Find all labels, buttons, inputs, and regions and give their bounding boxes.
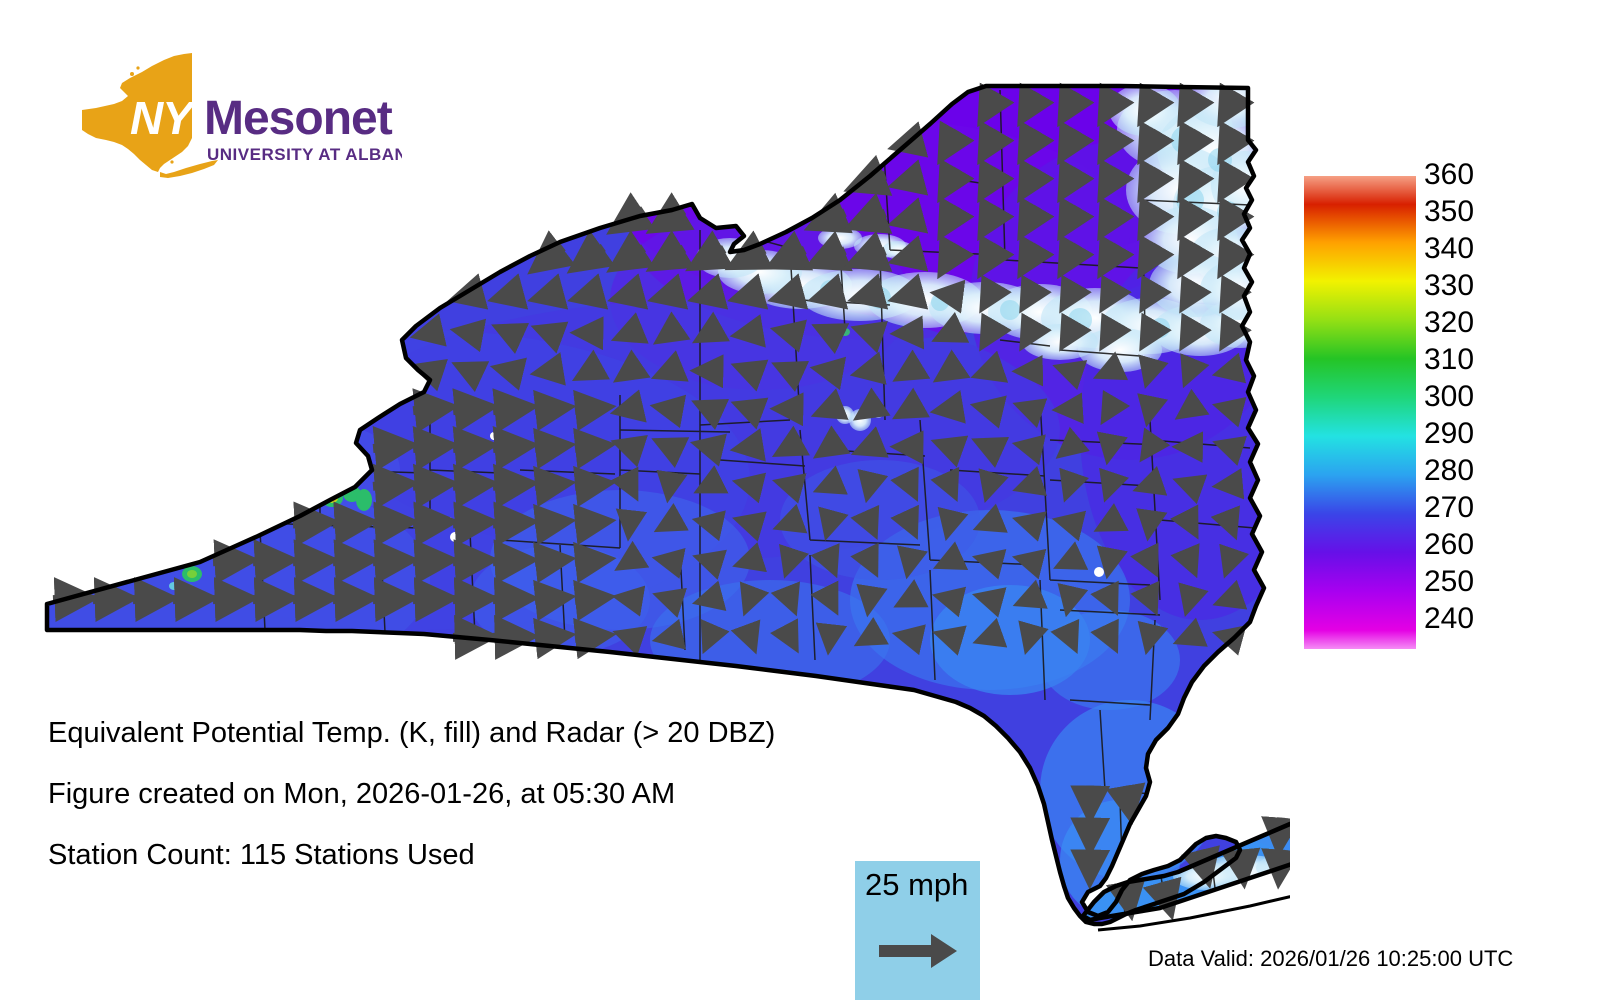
wind-vector (1060, 521, 1079, 526)
wind-vector (659, 407, 681, 411)
wind-vector (620, 597, 639, 600)
colorbar-tick-280: 280 (1424, 456, 1504, 486)
colorbar-tick-260: 260 (1424, 530, 1504, 560)
wind-vector (1068, 589, 1072, 608)
wind-vector (899, 333, 921, 334)
colorbar-tick-320: 320 (1424, 308, 1504, 338)
wind-vector (373, 446, 407, 449)
wind-vector (413, 484, 447, 487)
wind-vector (333, 560, 367, 562)
wind-vector (575, 483, 605, 486)
wind-vector (373, 484, 407, 487)
wind-vector (493, 598, 527, 599)
wind-vector (939, 407, 961, 411)
colorbar-tick-340: 340 (1424, 234, 1504, 264)
wind-vector (413, 598, 447, 599)
wind-vector (413, 446, 447, 449)
wind-vector (539, 369, 561, 373)
wind-vector (535, 445, 565, 448)
wind-vector (629, 513, 631, 533)
wind-vector (413, 522, 447, 524)
wind-vector (173, 598, 207, 599)
wind-key-label: 25 mph (865, 868, 968, 902)
wind-vector (459, 331, 481, 335)
wind-vector (1108, 437, 1112, 456)
wind-vector (373, 522, 407, 524)
wind-vector (535, 407, 565, 410)
wind-vector (453, 522, 487, 524)
figure-caption: Equivalent Potential Temp. (K, fill) and… (48, 718, 948, 901)
wind-vector (493, 407, 527, 410)
wind-vector (373, 560, 407, 562)
wind-vector (829, 627, 831, 647)
colorbar-tick-330: 330 (1424, 271, 1504, 301)
wind-vector (859, 369, 881, 374)
wind-vector (453, 407, 487, 410)
wind-vector (373, 598, 407, 599)
wind-vector (1149, 513, 1152, 533)
wind-vector (333, 598, 367, 599)
caption-station-count: Station Count: 115 Stations Used (48, 840, 948, 870)
wind-vector (293, 598, 327, 599)
wind-vector (1060, 408, 1080, 409)
wind-vector (739, 331, 761, 335)
data-valid-timestamp: Data Valid: 2026/01/26 10:25:00 UTC (1148, 947, 1513, 971)
colorbar-tick-270: 270 (1424, 493, 1504, 523)
wind-vector (493, 446, 527, 449)
wind-vector (493, 522, 527, 524)
wind-vector (575, 445, 605, 448)
wind-vector (333, 522, 367, 524)
wind-vector (948, 513, 953, 532)
wind-vector (669, 475, 672, 494)
wind-vector (819, 369, 841, 373)
wind-vector (868, 475, 872, 494)
wind-vector (869, 589, 872, 608)
wind-vector (213, 598, 247, 599)
wind-vector (900, 635, 919, 639)
wind-vector (940, 597, 959, 602)
wind-vector (660, 635, 679, 639)
wind-vector (535, 521, 565, 524)
wind-vector (575, 407, 605, 410)
wind-vector (293, 560, 327, 562)
wind-vector (453, 560, 487, 562)
wind-vector (939, 294, 961, 297)
caption-created: Figure created on Mon, 2026-01-26, at 05… (48, 779, 948, 809)
wind-vector (293, 522, 327, 524)
colorbar-tick-350: 350 (1424, 197, 1504, 227)
wind-vector (453, 446, 487, 449)
colorbar-tick-290: 290 (1424, 419, 1504, 449)
wind-vector (535, 597, 565, 600)
wind-vector (535, 483, 565, 486)
wind-vector (413, 560, 447, 562)
wind-vector (133, 598, 167, 599)
wind-vector (453, 484, 487, 487)
colorbar-tick-240: 240 (1424, 604, 1504, 634)
wind-vector (493, 484, 527, 487)
wind-vector (1241, 850, 1244, 879)
wind-speed-key: 25 mph (855, 861, 980, 1000)
wind-vector (739, 445, 761, 449)
wind-vector (1148, 399, 1152, 418)
wind-vector (1279, 818, 1281, 847)
wind-vector (575, 559, 605, 562)
right-arrow-icon (879, 926, 959, 976)
wind-vector (253, 560, 287, 562)
wind-vector (908, 551, 912, 570)
wind-vector (535, 559, 565, 562)
wind-vector (1279, 850, 1281, 879)
wind-vector (1220, 484, 1240, 486)
wind-vector (493, 560, 527, 562)
wind-vector (1126, 786, 1131, 814)
colorbar-tick-250: 250 (1424, 567, 1504, 597)
wind-vector (575, 521, 605, 524)
wind-vector (1108, 551, 1112, 570)
wind-vector (453, 598, 487, 599)
wind-vector (700, 521, 719, 525)
colorbar-tick-360: 360 (1424, 160, 1504, 190)
wind-vector (660, 559, 679, 563)
wind-vector (740, 483, 759, 488)
colorbar-tick-300: 300 (1424, 382, 1504, 412)
wind-vector (535, 635, 565, 638)
wind-vector (493, 637, 527, 638)
wind-vector (253, 598, 287, 599)
colorbar: 360 350 340 330 320 310 300 290 280 270 … (1304, 172, 1594, 657)
wind-vector (1148, 627, 1153, 646)
colorbar-gradient (1304, 176, 1416, 649)
caption-title: Equivalent Potential Temp. (K, fill) and… (48, 718, 948, 748)
wind-vector (413, 407, 447, 410)
wind-vector (575, 635, 605, 638)
wind-vector (1220, 369, 1239, 374)
wind-vector (1020, 445, 1039, 449)
wind-vector (93, 598, 127, 599)
colorbar-tick-310: 310 (1424, 345, 1504, 375)
wind-vector (575, 597, 605, 600)
wind-vector (213, 560, 247, 562)
